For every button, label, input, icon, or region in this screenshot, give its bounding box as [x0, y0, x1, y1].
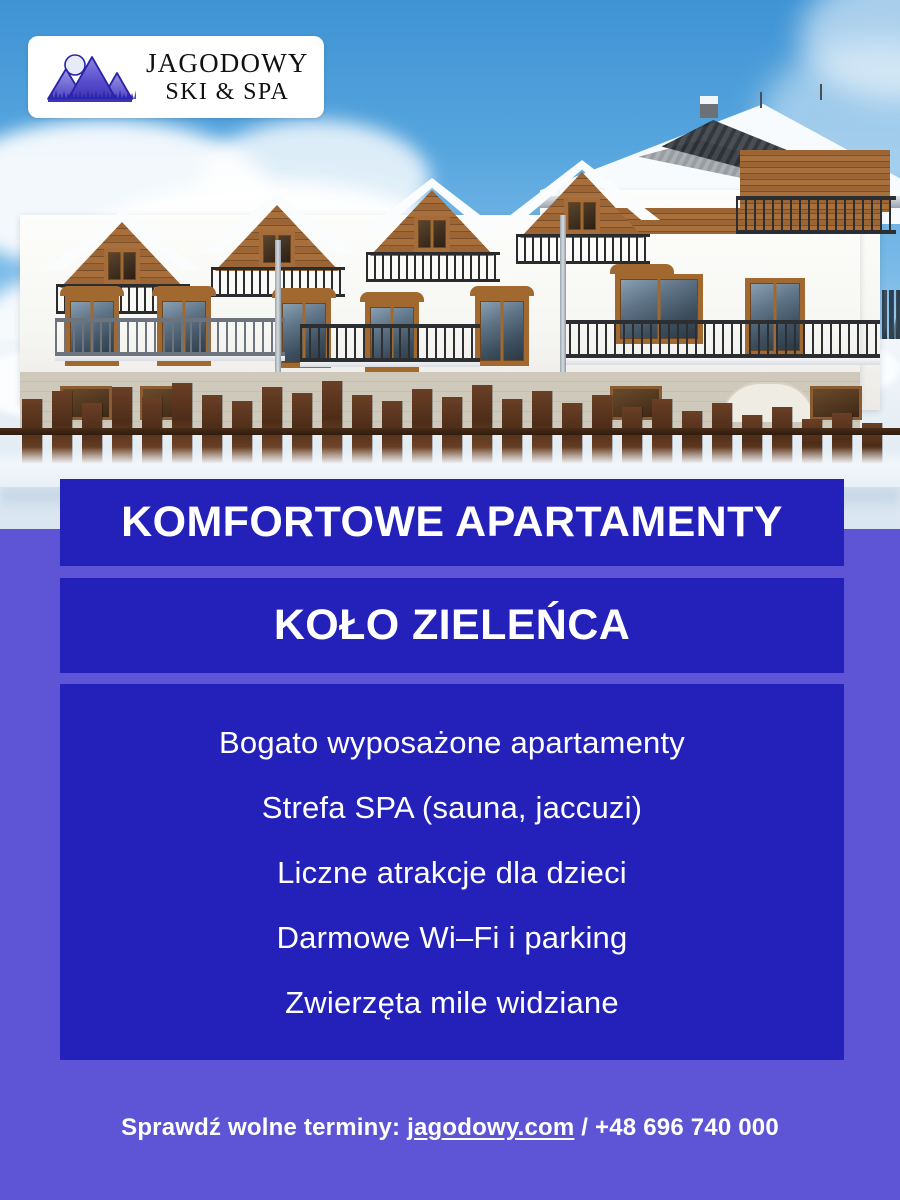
- feature-item: Strefa SPA (sauna, jaccuzi): [262, 775, 642, 840]
- antenna: [760, 92, 762, 108]
- balcony-rail: [560, 320, 880, 358]
- fence-rail: [0, 428, 900, 435]
- poster: JAGODOWY SKI & SPA KOMFORTOWE APARTAMENT…: [0, 0, 900, 1200]
- features-panel: Bogato wyposażone apartamenty Strefa SPA…: [60, 684, 844, 1060]
- dormer-balcony-rail: [366, 252, 500, 282]
- balcony-rail: [55, 318, 285, 356]
- window-header: [470, 286, 534, 296]
- dormer-window: [104, 248, 140, 284]
- footer-prefix: Sprawdź wolne terminy:: [121, 1114, 400, 1141]
- logo-wordmark: JAGODOWY SKI & SPA: [146, 50, 309, 104]
- website-link[interactable]: jagodowy.com: [407, 1114, 574, 1141]
- phone-number[interactable]: +48 696 740 000: [595, 1114, 779, 1141]
- balcony-rail: [300, 324, 480, 362]
- chimney: [700, 96, 718, 118]
- wooden-fence: [0, 367, 900, 487]
- logo-line-2: SKI & SPA: [165, 80, 289, 104]
- downpipe: [560, 215, 566, 375]
- dormer-3: [370, 190, 494, 282]
- mountain-peaks-icon: [44, 49, 136, 105]
- balcony-rail: [736, 196, 896, 234]
- dormer-4: [520, 172, 644, 264]
- footer-separator: /: [581, 1114, 588, 1141]
- dormer-window: [414, 216, 450, 252]
- brand-logo[interactable]: JAGODOWY SKI & SPA: [28, 36, 324, 118]
- feature-item: Liczne atrakcje dla dzieci: [277, 840, 627, 905]
- window-header: [272, 288, 336, 298]
- dormer-balcony-rail: [516, 234, 650, 264]
- contact-footer: Sprawdź wolne terminy: jagodowy.com / +4…: [0, 1114, 900, 1142]
- feature-item: Bogato wyposażone apartamenty: [219, 710, 685, 775]
- logo-line-1: JAGODOWY: [146, 50, 309, 77]
- feature-item: Zwierzęta mile widziane: [285, 970, 619, 1035]
- window-header: [152, 286, 216, 296]
- headline-line-1: KOMFORTOWE APARTAMENTY: [121, 501, 783, 544]
- window-header: [610, 264, 674, 274]
- headline-band-primary: KOMFORTOWE APARTAMENTY: [60, 479, 844, 566]
- feature-item: Darmowe Wi–Fi i parking: [277, 905, 628, 970]
- facade-window: [475, 296, 529, 366]
- headline-line-2: KOŁO ZIELEŃCA: [274, 604, 630, 647]
- window-header: [360, 292, 424, 302]
- downpipe: [275, 240, 281, 375]
- dormer-window: [564, 198, 600, 234]
- antenna: [820, 84, 822, 100]
- headline-band-secondary: KOŁO ZIELEŃCA: [60, 578, 844, 673]
- window-header: [60, 286, 124, 296]
